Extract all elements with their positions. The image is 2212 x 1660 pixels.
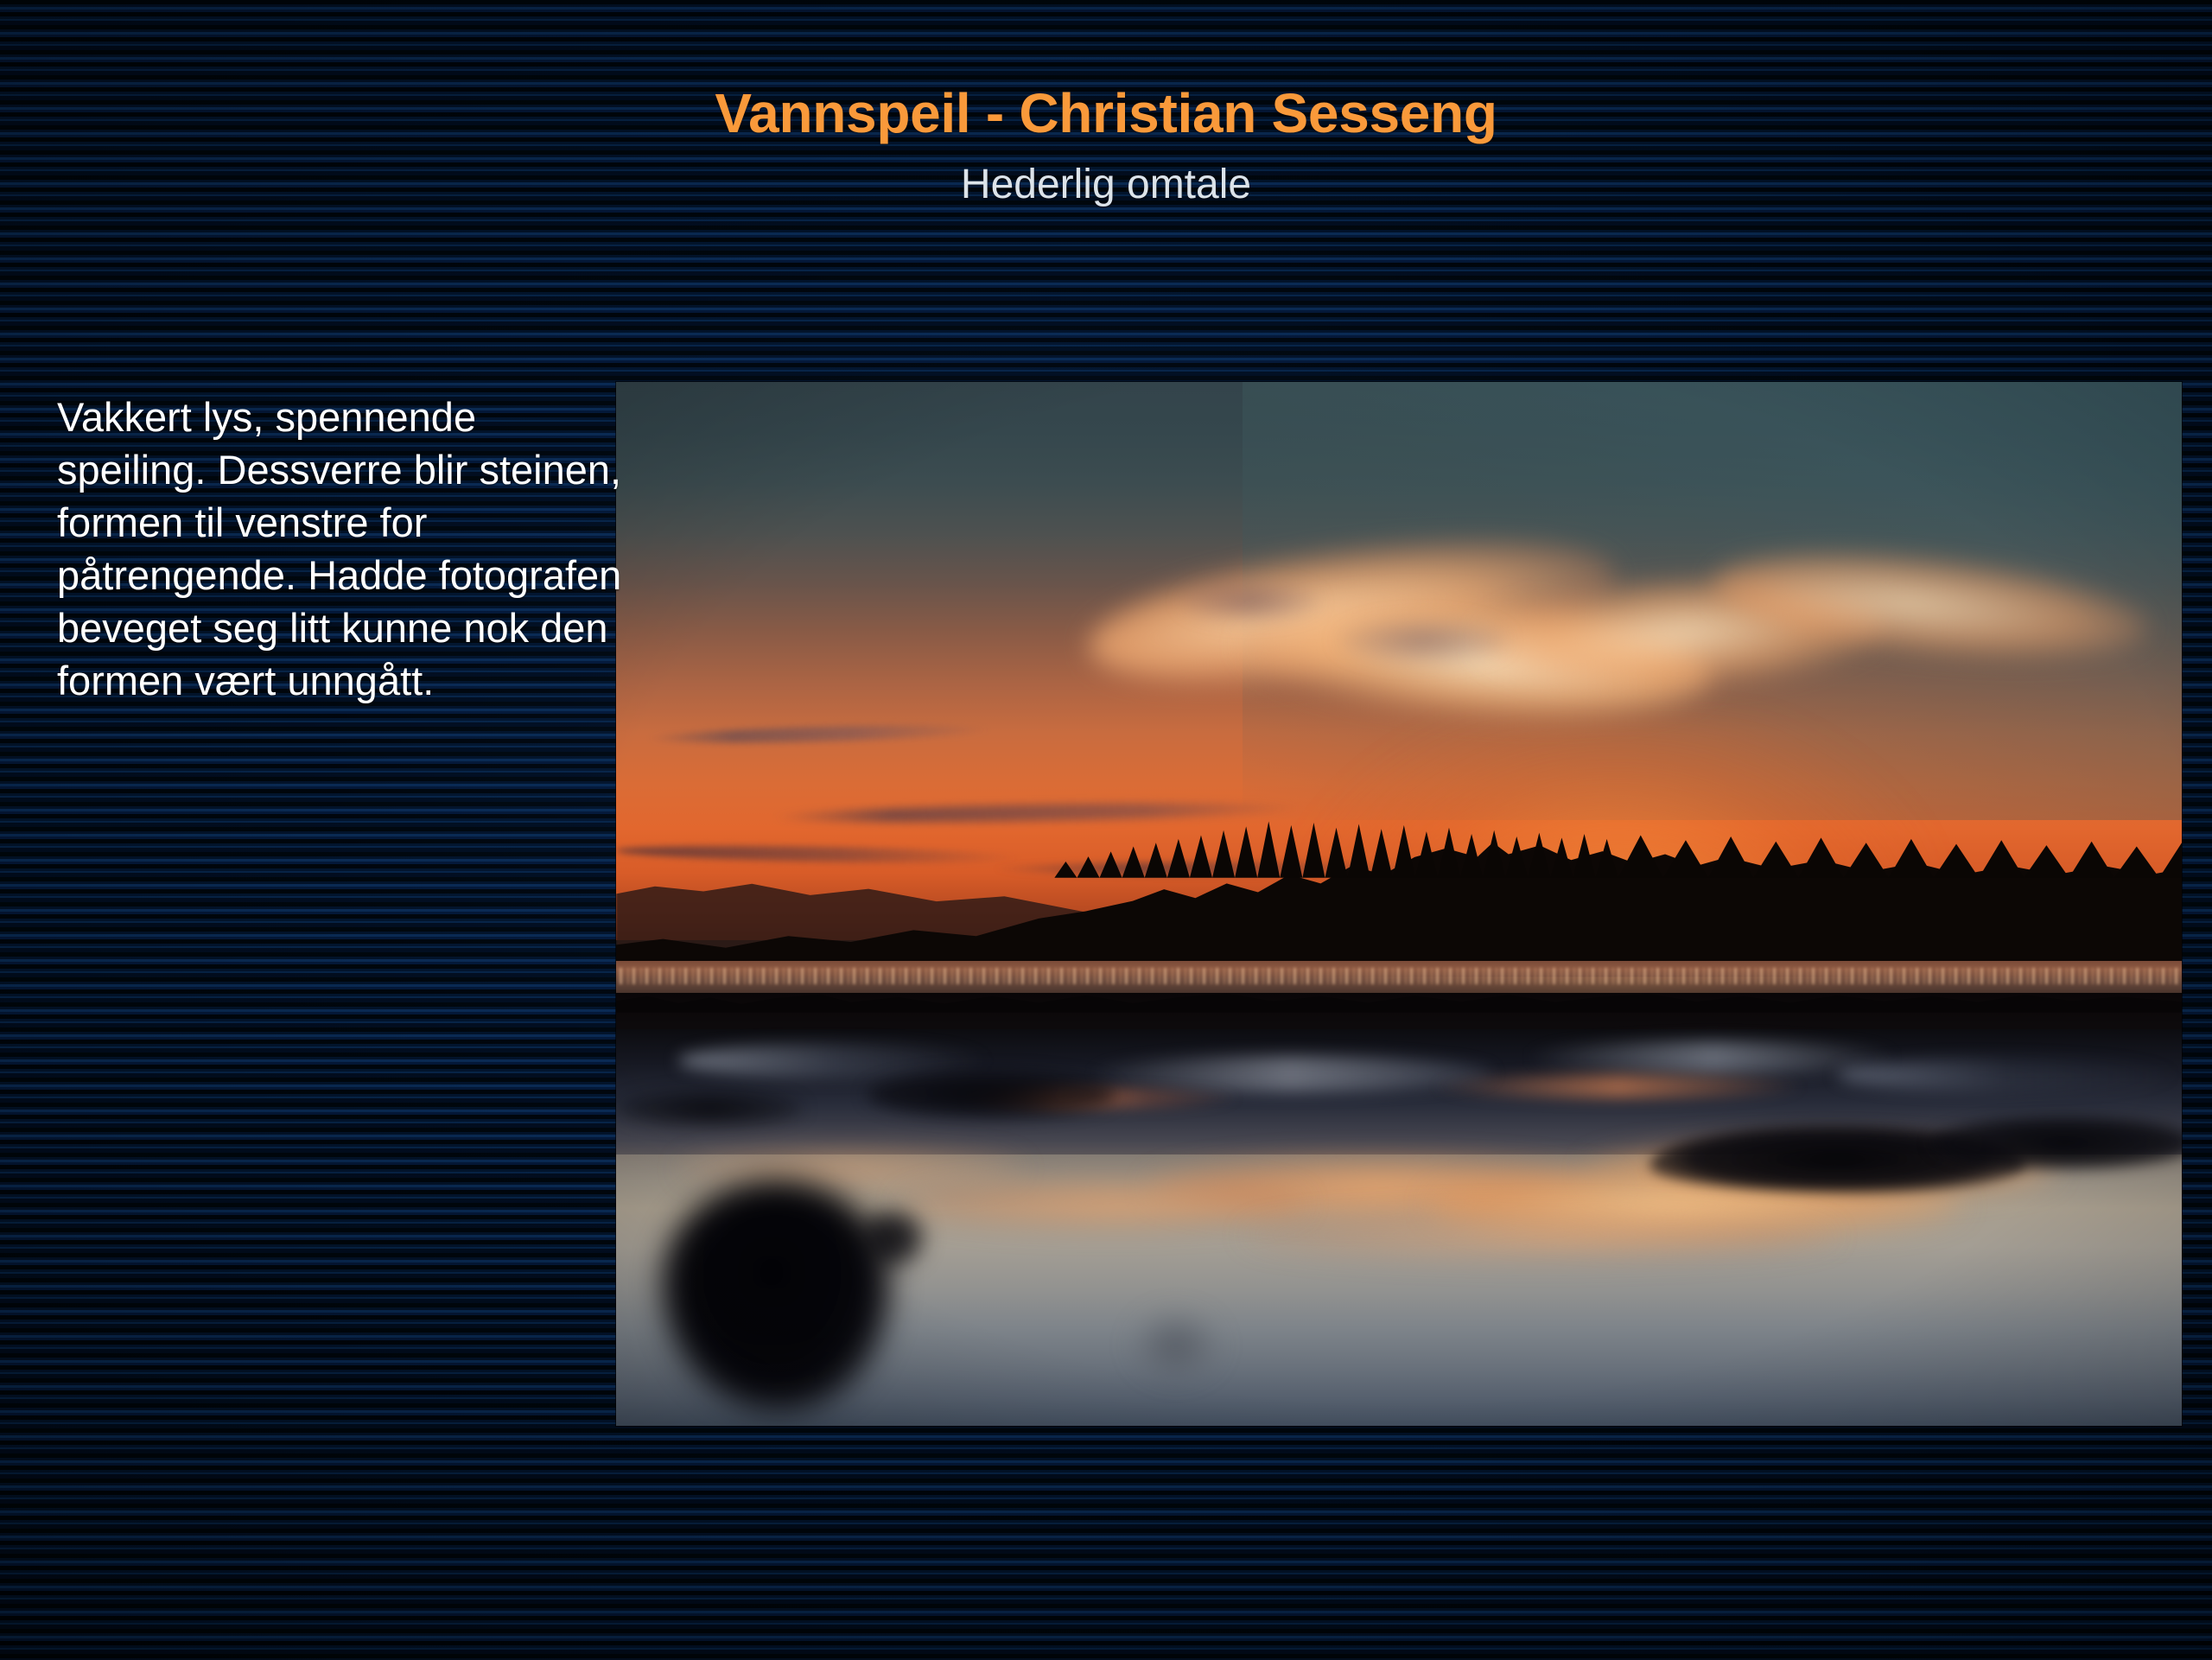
photo-mudflat-sheen-3 bbox=[1524, 1041, 1900, 1072]
body-paragraph: Vakkert lys, spennende speiling. Dessver… bbox=[57, 391, 627, 708]
page-subtitle: Hederlig omtale bbox=[0, 162, 2212, 208]
presentation-slide: Vannspeil - Christian Sesseng Hederlig o… bbox=[0, 0, 2212, 1660]
title-area: Vannspeil - Christian Sesseng Hederlig o… bbox=[0, 83, 2212, 208]
photo-water-glitter bbox=[616, 968, 2182, 984]
photo-cloud-shadow-2 bbox=[1337, 617, 1509, 664]
photo-sunset-water-reflection bbox=[616, 382, 2182, 1426]
photo-mudflat-rock-1 bbox=[867, 1071, 1117, 1117]
photo-rock-silhouette-right-2 bbox=[1931, 1116, 2182, 1168]
photo-stone-midground bbox=[1133, 1311, 1219, 1379]
photo-mudflat-orange-reflection-2 bbox=[1430, 1075, 1806, 1098]
photo-cloud-reflection-6 bbox=[678, 1148, 1023, 1190]
photo-cloud-reflection-5 bbox=[1243, 1212, 1838, 1258]
photo-cloud-shadow-1 bbox=[1179, 581, 1320, 622]
photo-mudflat-rock-2 bbox=[616, 1090, 804, 1127]
page-title: Vannspeil - Christian Sesseng bbox=[0, 83, 2212, 143]
photo-mudflat-sheen-4 bbox=[1837, 1059, 2182, 1092]
